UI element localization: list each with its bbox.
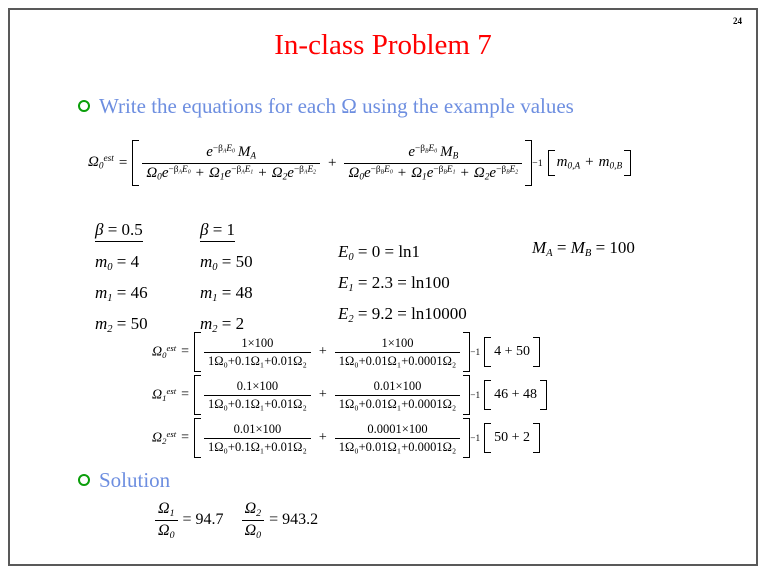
slide-canvas: 24 In-class Problem 7 Write the equation…	[8, 8, 758, 566]
m-symbol: m	[200, 314, 212, 333]
denominator: 1Ω₀+0.1Ω₁+0.01Ω₂	[204, 395, 311, 412]
omega-symbol: Ω	[209, 165, 220, 181]
omega-sup: est	[166, 343, 176, 353]
bracket-left-tail	[484, 337, 491, 367]
numerator: 0.0001×100	[363, 422, 431, 438]
numerator: 0.1×100	[233, 379, 282, 395]
omega-symbol: Ω	[272, 165, 283, 181]
numeq-lhs: Ω2est	[152, 429, 176, 447]
denominator: 1Ω₀+0.01Ω₁+0.0001Ω₂	[335, 438, 461, 455]
plus-sign: +	[314, 344, 332, 360]
param-row: m1 = 48	[200, 283, 253, 304]
mass-sum-tail: m0,A+m0,B	[555, 154, 624, 172]
param-row: m0 = 4	[95, 252, 148, 273]
M-symbol: M	[440, 144, 453, 160]
m-sub-a: 0,A	[568, 162, 581, 172]
energy-row: E1 = 2.3 = ln100	[338, 273, 467, 294]
numerator: 0.01×100	[370, 379, 426, 395]
plus-sign: +	[253, 165, 271, 181]
omega-symbol: Ω	[152, 388, 162, 403]
ratio-value: = 943.2	[269, 511, 318, 529]
term-b-fraction: e−βBE0MB Ω0e−βBE0+Ω1e−βBE1+Ω2e−βBE2	[344, 144, 522, 182]
neg-beta: −β	[415, 144, 425, 154]
param-row: m2 = 50	[95, 314, 148, 335]
bullet-item-solution: Solution	[78, 468, 170, 493]
omega-symbol: Ω	[146, 165, 157, 181]
plus-sign: +	[191, 165, 209, 181]
bracket-left	[194, 332, 201, 372]
term-a-numerator: e−βAE0MA	[202, 144, 260, 163]
e-symbol: e	[364, 165, 371, 181]
denominator: 1Ω₀+0.1Ω₁+0.01Ω₂	[204, 352, 311, 369]
E-sub: 2	[313, 169, 316, 175]
bracket-left	[194, 375, 201, 415]
equals-sign: =	[114, 155, 132, 172]
beta-value: = 0.5	[108, 220, 143, 239]
bracket-left	[194, 418, 201, 458]
m-value: = 50	[117, 314, 148, 333]
bracket-exponent: −1	[470, 347, 480, 357]
mass-equality: MA = MB = 100	[532, 238, 635, 259]
bracket-right	[463, 332, 470, 372]
ratio-value: = 94.7	[183, 511, 224, 529]
omega-symbol: Ω	[474, 165, 485, 181]
bracket-exponent: −1	[470, 390, 480, 400]
slide-number: 24	[733, 16, 742, 26]
m-value: = 50	[222, 252, 253, 271]
numeq-fraction-2: 0.0001×100 1Ω₀+0.01Ω₁+0.0001Ω₂	[335, 422, 461, 455]
omega-symbol: Ω	[245, 522, 257, 539]
omega-sub: 0	[170, 530, 175, 541]
m-sub: 0	[107, 262, 112, 273]
bracket-exponent: −1	[532, 158, 543, 169]
omega-superscript: est	[104, 154, 114, 164]
bullet-item-write-equations: Write the equations for each Ω using the…	[78, 94, 574, 119]
e-symbol: e	[206, 144, 213, 160]
bullet-label: Solution	[99, 468, 170, 493]
param-column-beta-0p5: β = 0.5 m0 = 4 m1 = 46 m2 = 50	[95, 220, 148, 345]
omega-symbol: Ω	[152, 345, 162, 360]
denominator: 1Ω₀+0.01Ω₁+0.0001Ω₂	[335, 395, 461, 412]
m-symbol: m	[200, 283, 212, 302]
tail-sum: 4 + 50	[491, 344, 533, 360]
energy-row: E2 = 9.2 = ln10000	[338, 304, 467, 325]
term-a-denominator: Ω0e−βAE0+Ω1e−βAE1+Ω2e−βAE2	[142, 163, 320, 183]
equals-sign: =	[176, 344, 194, 360]
ratio-denominator: Ω0	[242, 520, 265, 541]
M-symbol: M	[571, 238, 585, 257]
m-value: = 46	[117, 283, 148, 302]
param-column-header: β = 1	[200, 220, 253, 242]
bracket-left	[132, 140, 139, 186]
bracket-right	[463, 418, 470, 458]
numeq-lhs: Ω1est	[152, 386, 176, 404]
neg-beta: −β	[294, 165, 304, 175]
equals-sign: =	[176, 387, 194, 403]
beta-value: = 1	[213, 220, 235, 239]
numerator: 1×100	[377, 336, 417, 352]
tail-sum: 46 + 48	[491, 387, 540, 403]
energy-row: E0 = 0 = ln1	[338, 242, 467, 263]
omega-symbol: Ω	[88, 154, 99, 170]
term-b-denominator: Ω0e−βBE0+Ω1e−βBE1+Ω2e−βBE2	[344, 163, 522, 183]
numerator: 1×100	[237, 336, 277, 352]
bracket-right-tail	[540, 380, 547, 410]
ring-bullet-icon	[78, 474, 90, 486]
omega-symbol: Ω	[158, 522, 170, 539]
plus-sign: +	[314, 430, 332, 446]
omega-symbol: Ω	[158, 500, 170, 517]
plus-sign-between-terms: +	[323, 155, 341, 172]
equals-sign: =	[176, 430, 194, 446]
bracket-left-tail	[484, 423, 491, 453]
mass-value: = 100	[596, 238, 635, 257]
bracket-left-tail	[484, 380, 491, 410]
M-sub-a: A	[546, 248, 552, 259]
E-sub: 0	[348, 252, 353, 263]
bracket-right-tail	[624, 150, 631, 176]
numeq-fraction-1: 1×100 1Ω₀+0.1Ω₁+0.01Ω₂	[204, 336, 311, 369]
omega-symbol: Ω	[152, 431, 162, 446]
omega-symbol: Ω	[245, 500, 257, 517]
solution-ratio-2: Ω2 Ω0	[242, 500, 265, 541]
bullet-label: Write the equations for each Ω using the…	[99, 94, 574, 119]
param-row: m1 = 46	[95, 283, 148, 304]
denominator: 1Ω₀+0.01Ω₁+0.0001Ω₂	[335, 352, 461, 369]
bracket-right-tail	[533, 337, 540, 367]
numeric-equation-omega1: Ω1est = 0.1×100 1Ω₀+0.1Ω₁+0.01Ω₂ + 0.01×…	[152, 375, 547, 415]
omega-sup: est	[166, 429, 176, 439]
numeric-equation-omega2: Ω2est = 0.01×100 1Ω₀+0.1Ω₁+0.01Ω₂ + 0.00…	[152, 418, 540, 458]
E-sub: 2	[515, 169, 518, 175]
omega-symbol: Ω	[348, 165, 359, 181]
m-value: = 2	[222, 314, 244, 333]
E-value: = 0 = ln1	[358, 242, 420, 261]
bracket-right	[463, 375, 470, 415]
m-symbol: m	[95, 314, 107, 333]
solution-ratios: Ω1 Ω0 = 94.7 Ω2 Ω0 = 943.2	[150, 500, 318, 541]
omega-sup: est	[166, 386, 176, 396]
ratio-numerator: Ω1	[155, 500, 178, 520]
term-b-numerator: e−βBE0MB	[404, 144, 462, 163]
m-value: = 48	[222, 283, 253, 302]
m-symbol: m	[200, 252, 212, 271]
neg-beta: −β	[371, 165, 381, 175]
ring-bullet-icon	[78, 100, 90, 112]
column-header-content: β = 0.5	[95, 220, 143, 242]
omega-symbol: Ω	[411, 165, 422, 181]
plus-sign: +	[455, 165, 473, 181]
m-symbol: m	[95, 283, 107, 302]
neg-beta: −β	[213, 144, 223, 154]
numeq-fraction-1: 0.01×100 1Ω₀+0.1Ω₁+0.01Ω₂	[204, 422, 311, 455]
E-value: = 9.2 = ln10000	[358, 304, 467, 323]
E-sub: 0	[434, 149, 437, 155]
numeric-equation-omega0: Ω0est = 1×100 1Ω₀+0.1Ω₁+0.01Ω₂ + 1×100 1…	[152, 332, 540, 372]
page-title: In-class Problem 7	[10, 29, 756, 62]
param-column-beta-1: β = 1 m0 = 50 m1 = 48 m2 = 2	[200, 220, 253, 345]
m-symbol: m	[599, 154, 610, 170]
e-symbol: e	[162, 165, 169, 181]
ratio-numerator: Ω2	[242, 500, 265, 520]
m-value: = 4	[117, 252, 139, 271]
M-symbol: M	[238, 144, 251, 160]
numeq-fraction-1: 0.1×100 1Ω₀+0.1Ω₁+0.01Ω₂	[204, 379, 311, 412]
plus-sign: +	[393, 165, 411, 181]
omega-sub: 2	[256, 508, 261, 519]
param-column-header: β = 0.5	[95, 220, 148, 242]
numerator: 0.01×100	[230, 422, 286, 438]
m-sub-b: 0,B	[609, 162, 622, 172]
term-a-fraction: e−βAE0MA Ω0e−βAE0+Ω1e−βAE1+Ω2e−βAE2	[142, 144, 320, 182]
m-symbol: m	[557, 154, 568, 170]
numeq-fraction-2: 0.01×100 1Ω₀+0.01Ω₁+0.0001Ω₂	[335, 379, 461, 412]
m-symbol: m	[95, 252, 107, 271]
beta-symbol: β	[95, 220, 103, 239]
E-sub: 2	[348, 314, 353, 325]
plus-sign: +	[580, 154, 598, 170]
omega-sub: 0	[256, 530, 261, 541]
e-symbol: e	[408, 144, 415, 160]
M-symbol: M	[532, 238, 546, 257]
bracket-right-tail	[533, 423, 540, 453]
m-sub: 1	[212, 293, 217, 304]
neg-beta: −β	[169, 165, 179, 175]
ratio-denominator: Ω0	[155, 520, 178, 541]
energy-column: E0 = 0 = ln1 E1 = 2.3 = ln100 E2 = 9.2 =…	[338, 242, 467, 335]
solution-ratio-1: Ω1 Ω0	[155, 500, 178, 541]
omega-sub: 1	[170, 508, 175, 519]
main-equation: Ω0est = e−βAE0MA Ω0e−βAE0+Ω1e−βAE1+Ω2e−β…	[88, 140, 631, 186]
numeq-lhs: Ω0est	[152, 343, 176, 361]
m-sub: 2	[107, 324, 112, 335]
neg-beta: −β	[496, 165, 506, 175]
M-sub: A	[250, 152, 256, 162]
denominator: 1Ω₀+0.1Ω₁+0.01Ω₂	[204, 438, 311, 455]
m-sub: 0	[212, 262, 217, 273]
E-sub: 1	[348, 283, 353, 294]
main-eq-lhs: Ω0est	[88, 154, 114, 172]
E-symbol: E	[338, 273, 348, 292]
e-symbol: e	[287, 165, 294, 181]
M-sub-b: B	[585, 248, 591, 259]
E-value: = 2.3 = ln100	[358, 273, 450, 292]
neg-beta: −β	[231, 165, 241, 175]
equals-sign: =	[557, 238, 567, 257]
numeq-fraction-2: 1×100 1Ω₀+0.01Ω₁+0.0001Ω₂	[335, 336, 461, 369]
beta-symbol: β	[200, 220, 208, 239]
plus-sign: +	[314, 387, 332, 403]
m-sub: 1	[107, 293, 112, 304]
bracket-right	[525, 140, 532, 186]
param-row: m0 = 50	[200, 252, 253, 273]
bracket-exponent: −1	[470, 433, 480, 443]
E-symbol: E	[338, 304, 348, 323]
M-sub: B	[453, 152, 459, 162]
E-symbol: E	[338, 242, 348, 261]
bracket-left-tail	[548, 150, 555, 176]
column-header-content: β = 1	[200, 220, 235, 242]
E-sub: 0	[232, 149, 235, 155]
tail-sum: 50 + 2	[491, 430, 533, 446]
neg-beta: −β	[433, 165, 443, 175]
